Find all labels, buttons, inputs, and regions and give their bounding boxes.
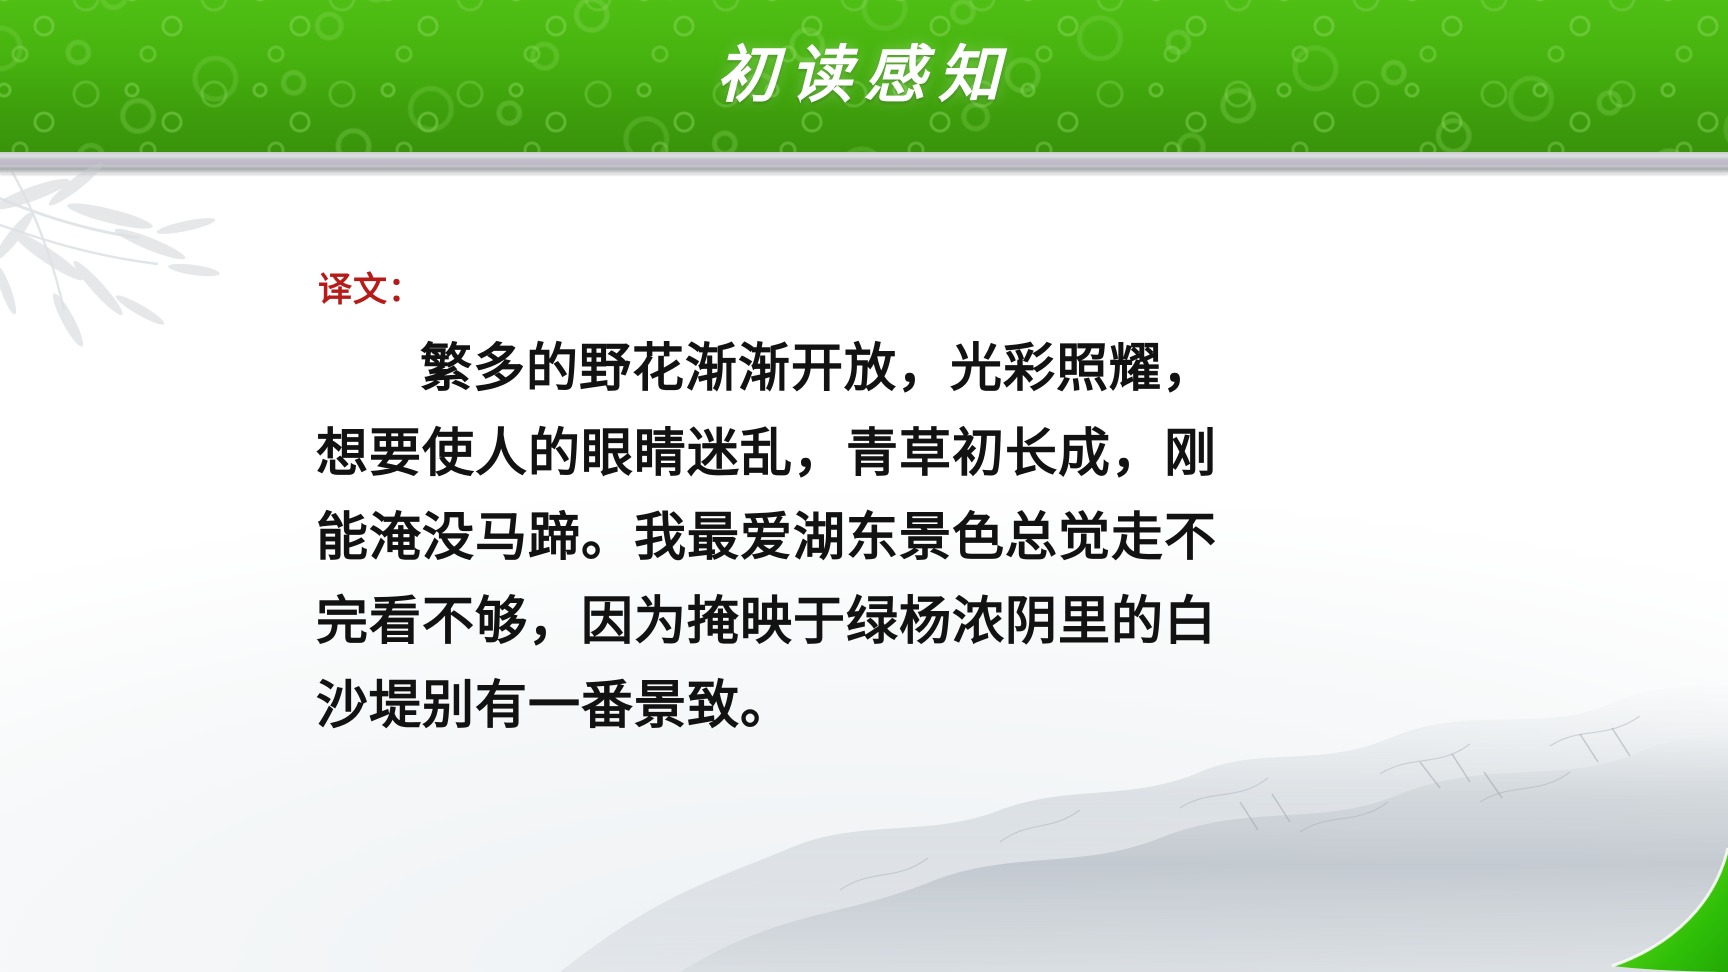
bamboo-watermark-icon bbox=[0, 160, 320, 420]
slide-header-banner: 初读感知 bbox=[0, 0, 1728, 152]
content-block: 译文： 繁多的野花渐渐开放，光彩照耀，想要使人的眼睛迷乱，青草初长成，刚能淹没马… bbox=[316, 272, 1316, 749]
page-title: 初读感知 bbox=[0, 44, 1728, 106]
translation-passage: 繁多的野花渐渐开放，光彩照耀，想要使人的眼睛迷乱，青草初长成，刚能淹没马蹄。我最… bbox=[316, 327, 1246, 748]
translation-label: 译文： bbox=[318, 272, 1316, 309]
slide: 初读感知 bbox=[0, 0, 1728, 972]
page-curl-corner-icon bbox=[1596, 840, 1728, 972]
header-divider bbox=[0, 152, 1728, 174]
